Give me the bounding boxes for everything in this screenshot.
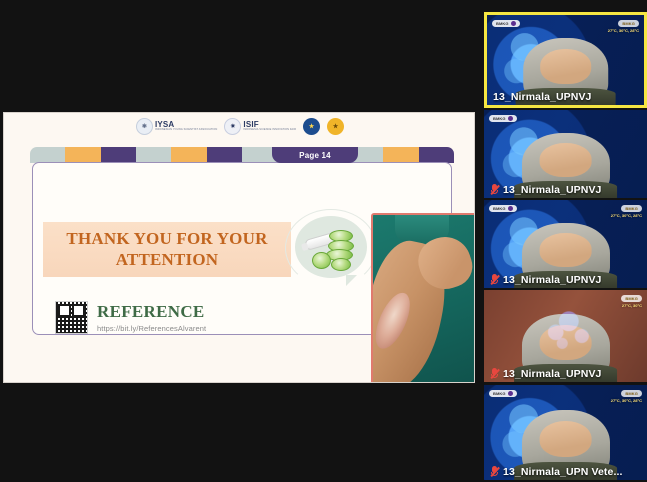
video-overlay-badge-left: BMKG <box>492 20 520 27</box>
participant-video-3: BMKG27°C, 30°C13_Nirmala_UPNVJ <box>484 290 647 382</box>
badge-dot-icon <box>511 21 516 26</box>
face-region <box>539 143 592 177</box>
cucumber-slice-icon <box>312 252 331 269</box>
participant-tile-3[interactable]: BMKG27°C, 30°C13_Nirmala_UPNVJ <box>484 290 647 382</box>
reference-block: REFERENCE https://bit.ly/ReferencesAlvar… <box>55 301 206 334</box>
stripe-segment-0 <box>30 147 65 163</box>
participant-tile-4[interactable]: BMKGBMKG27°C, 30°C, 28°C13_Nirmala_UPN V… <box>484 385 647 480</box>
video-overlay-badge-right: BMKG <box>621 205 642 212</box>
video-overlay-temperatures: 27°C, 30°C <box>622 303 642 308</box>
thank-you-line-2: ATTENTION <box>116 250 219 270</box>
participant-tile-1[interactable]: BMKG13_Nirmala_UPNVJ <box>484 110 647 198</box>
patient-arm-photo <box>371 213 475 383</box>
page-number-label: Page 14 <box>299 151 331 160</box>
video-overlay-temperatures: 27°C, 30°C, 28°C <box>608 28 639 33</box>
iysa-logo-sub: INDONESIAN YOUNG SCIENTIST ASSOCIATION <box>155 129 217 132</box>
decorative-stripe-bar <box>30 147 454 163</box>
qr-code-icon[interactable] <box>55 301 88 334</box>
participant-video-4: BMKGBMKG27°C, 30°C, 28°C13_Nirmala_UPN V… <box>484 385 647 480</box>
organization-logos: ⚛ IYSA INDONESIAN YOUNG SCIENTIST ASSOCI… <box>4 117 475 135</box>
badge-dot-icon <box>508 206 513 211</box>
participant-name-label: 13_Nirmala_UPNVJ <box>503 274 602 286</box>
thank-you-banner: THANK YOU FOR YOUR ATTENTION <box>43 222 291 277</box>
face-region <box>539 421 592 458</box>
microphone-muted-icon <box>490 274 499 286</box>
participant-video-0: BMKGBMKG27°C, 30°C, 28°C13_Nirmala_UPNVJ <box>487 15 644 105</box>
shared-screen-slide[interactable]: ⚛ IYSA INDONESIAN YOUNG SCIENTIST ASSOCI… <box>3 112 475 383</box>
participant-tile-2[interactable]: BMKGBMKG27°C, 30°C, 28°C13_Nirmala_UPNVJ <box>484 200 647 288</box>
participant-name-row: 13_Nirmala_UPNVJ <box>484 274 647 286</box>
participant-name-label: 13_Nirmala_UPNVJ <box>503 368 602 380</box>
participant-name-row: 13_Nirmala_UPN Vete... <box>484 466 647 478</box>
video-overlay-badge-right: BMKG <box>621 390 642 397</box>
participant-name-label: 13_Nirmala_UPN Vete... <box>503 466 623 478</box>
stripe-segment-10 <box>383 147 418 163</box>
stripe-segment-2 <box>101 147 136 163</box>
participant-video-1: BMKG13_Nirmala_UPNVJ <box>484 110 647 198</box>
participant-name-row: 13_Nirmala_UPNVJ <box>484 368 647 380</box>
participant-name-label: 13_Nirmala_UPNVJ <box>503 184 602 196</box>
participant-video-rail[interactable]: BMKGBMKG27°C, 30°C, 28°C13_Nirmala_UPNVJ… <box>484 0 647 482</box>
stripe-segment-5 <box>207 147 242 163</box>
badge-dot-icon <box>508 391 513 396</box>
university-seal-icon: ★ <box>303 118 320 135</box>
university-logo-1: ★ <box>303 117 320 135</box>
university-seal-icon: ★ <box>327 118 344 135</box>
video-overlay-temperatures: 27°C, 30°C, 28°C <box>611 398 642 403</box>
video-overlay-badge-left: BMKG <box>489 390 517 397</box>
stripe-segment-1 <box>65 147 100 163</box>
stripe-segment-3 <box>136 147 171 163</box>
stripe-segment-4 <box>171 147 206 163</box>
participant-tile-0[interactable]: BMKGBMKG27°C, 30°C, 28°C13_Nirmala_UPNVJ <box>484 12 647 108</box>
iysa-logo-icon: ⚛ <box>136 118 153 135</box>
video-overlay-temperatures: 27°C, 30°C, 28°C <box>611 213 642 218</box>
meeting-window: ⚛ IYSA INDONESIAN YOUNG SCIENTIST ASSOCI… <box>0 0 647 482</box>
face-region <box>540 49 591 84</box>
badge-dot-icon <box>508 116 513 121</box>
microphone-muted-icon <box>490 184 499 196</box>
cucumber-speech-bubble <box>295 216 367 278</box>
video-overlay-badge-left: BMKG <box>489 205 517 212</box>
isif-logo-icon: ✷ <box>224 118 241 135</box>
reference-heading: REFERENCE <box>97 302 206 322</box>
university-logo-2: ★ <box>327 117 344 135</box>
skin-lesion-region <box>371 288 417 353</box>
slide-content-card: THANK YOU FOR YOUR ATTENTION REFERENCE h… <box>32 162 452 335</box>
video-overlay-badge-right: BMKG <box>618 20 639 27</box>
page-number-tab: Page 14 <box>272 147 358 163</box>
microphone-muted-icon <box>490 466 499 478</box>
participant-name-row: 13_Nirmala_UPNVJ <box>487 91 644 103</box>
microphone-muted-icon <box>490 368 499 380</box>
video-overlay-badge-left: BMKG <box>489 115 517 122</box>
video-overlay-badge-right: BMKG <box>621 295 642 302</box>
reference-url[interactable]: https://bit.ly/ReferencesAlvarent <box>97 324 206 333</box>
face-region <box>539 233 592 267</box>
thank-you-line-1: THANK YOU FOR YOUR <box>66 229 267 249</box>
isif-logo: ✷ ISIF INDONESIA SCIENCE INNOVATION FAIR <box>224 117 296 135</box>
isif-logo-sub: INDONESIA SCIENCE INNOVATION FAIR <box>243 129 296 132</box>
cucumber-slice-icon <box>331 258 351 271</box>
participant-video-2: BMKGBMKG27°C, 30°C, 28°C13_Nirmala_UPNVJ <box>484 200 647 288</box>
iysa-logo: ⚛ IYSA INDONESIAN YOUNG SCIENTIST ASSOCI… <box>136 117 217 135</box>
stripe-segment-11 <box>419 147 454 163</box>
participant-name-label: 13_Nirmala_UPNVJ <box>493 91 592 103</box>
participant-name-row: 13_Nirmala_UPNVJ <box>484 184 647 196</box>
